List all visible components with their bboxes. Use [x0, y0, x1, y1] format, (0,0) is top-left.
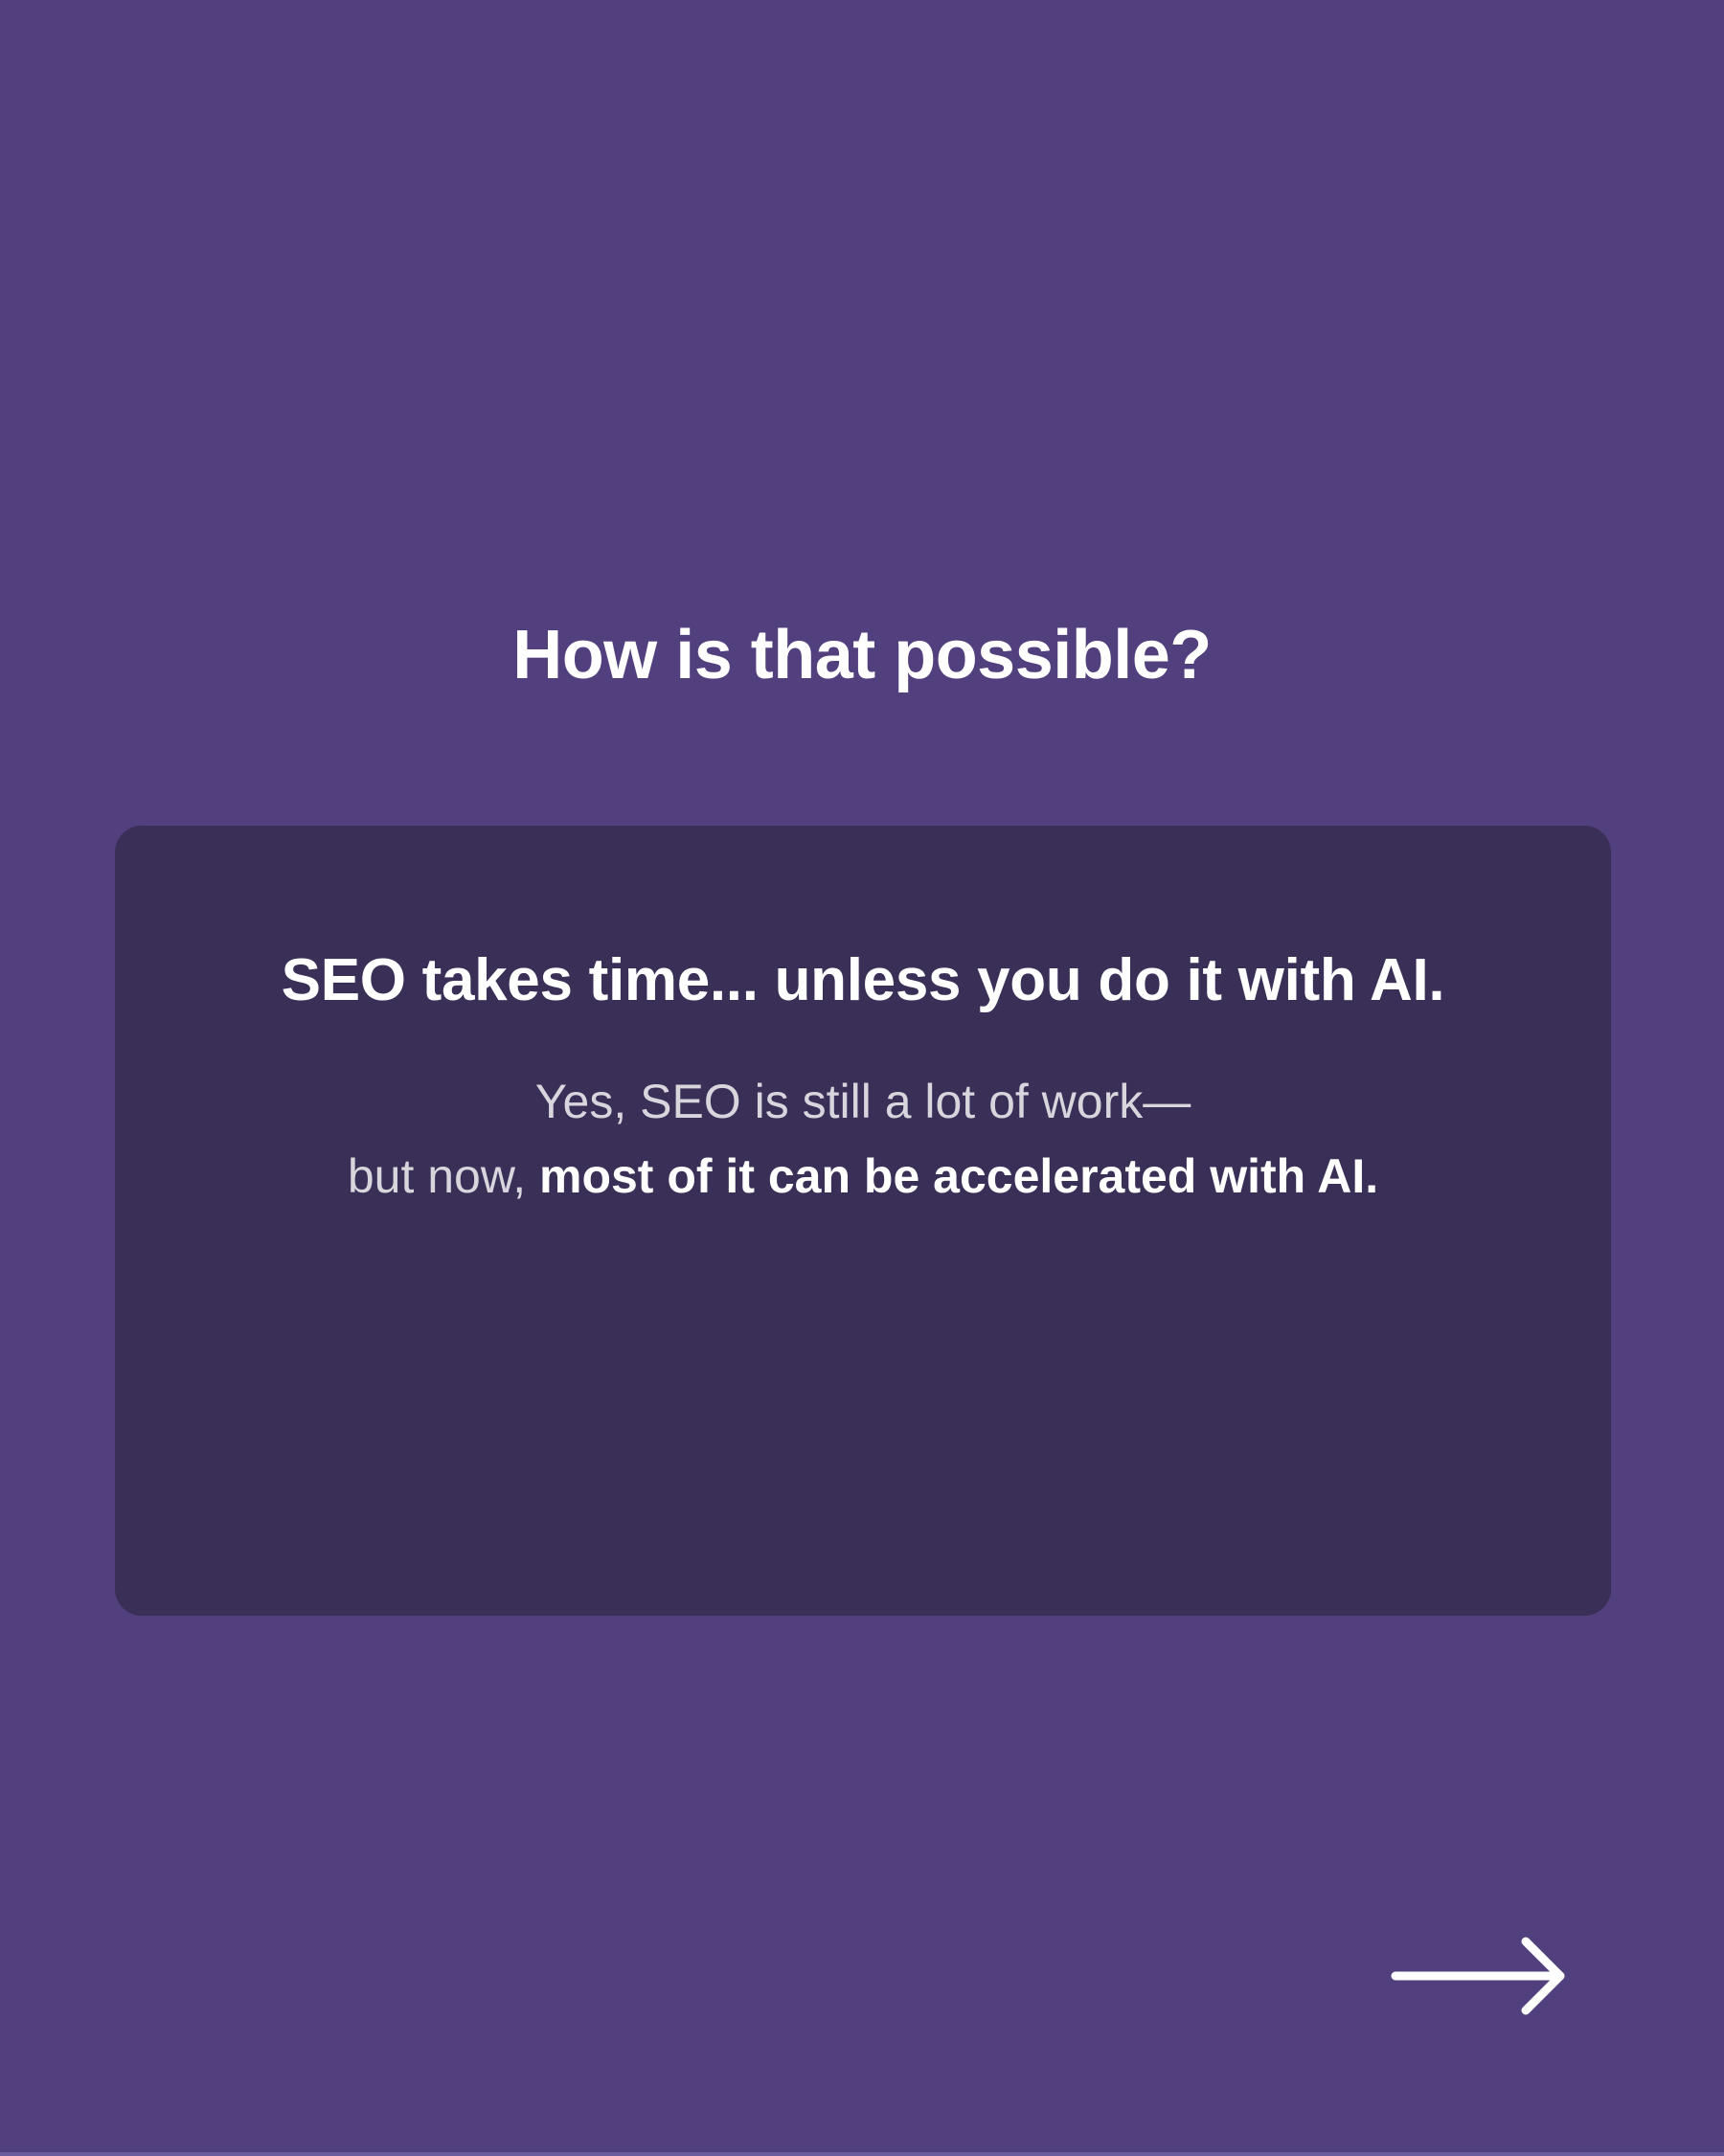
- page-title: How is that possible?: [0, 615, 1724, 696]
- slide-container: How is that possible? SEO takes time... …: [0, 0, 1724, 2156]
- card-body: Yes, SEO is still a lot of work— but now…: [184, 1065, 1542, 1214]
- card-heading: SEO takes time... unless you do it with …: [184, 945, 1542, 1015]
- card-body-line-2-emphasis: most of it can be accelerated with AI.: [539, 1149, 1378, 1203]
- content-card: SEO takes time... unless you do it with …: [115, 826, 1611, 1616]
- card-body-line-1: Yes, SEO is still a lot of work—: [535, 1075, 1191, 1128]
- card-body-line-2-lead: but now,: [348, 1149, 539, 1203]
- progress-strip: [0, 2152, 1724, 2156]
- arrow-right-icon: [1388, 1930, 1572, 2022]
- next-slide-button[interactable]: [1388, 1930, 1572, 2022]
